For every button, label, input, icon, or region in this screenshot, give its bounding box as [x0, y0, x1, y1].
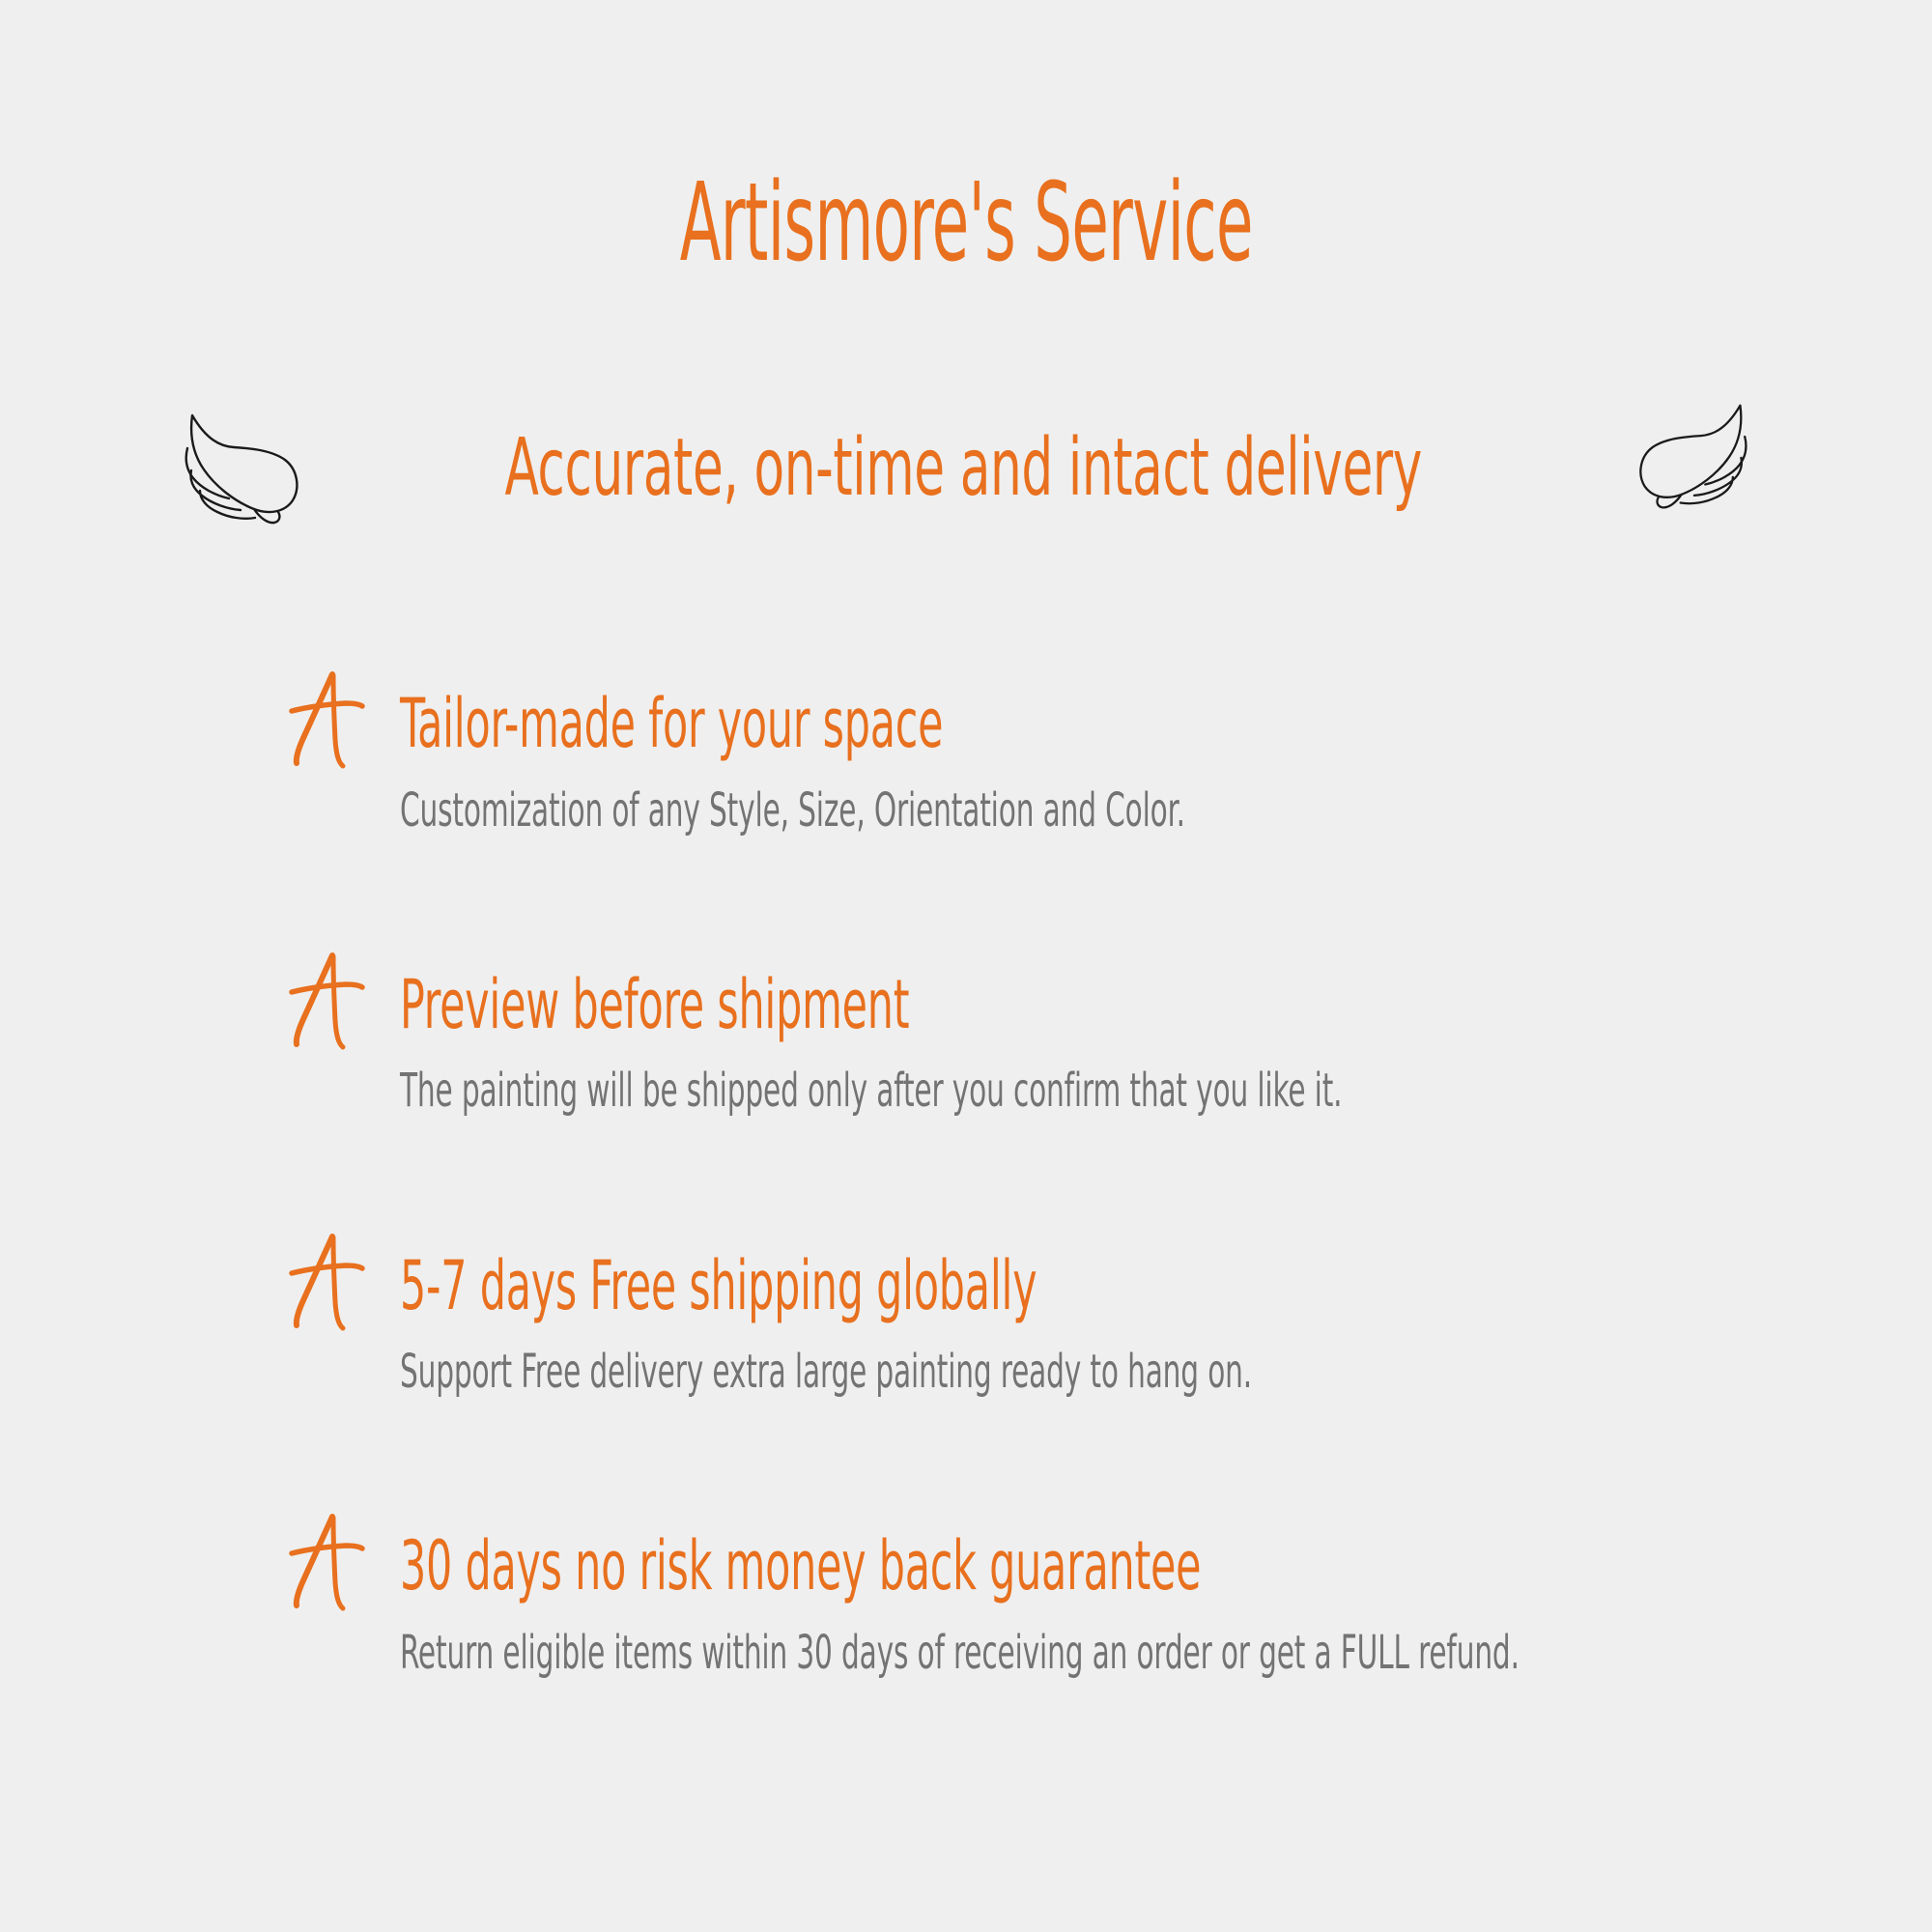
list-item-body: 5-7 days Free shipping globally Support … — [400, 1250, 1851, 1400]
feature-heading: Tailor-made for your space — [400, 688, 1386, 761]
page-title: Artismore's Service — [679, 169, 1252, 277]
list-item-body: Tailor-made for your space Customization… — [400, 688, 1851, 838]
script-a-icon — [286, 670, 365, 773]
service-feature-list: Tailor-made for your space Customization… — [286, 688, 1851, 1680]
feature-description: Support Free delivery extra large painti… — [400, 1346, 1394, 1399]
script-a-icon — [286, 1233, 365, 1335]
feature-description: Return eligible items within 30 days of … — [400, 1627, 1394, 1680]
feature-heading: 30 days no risk money back guarantee — [400, 1530, 1386, 1604]
list-item-body: Preview before shipment The painting wil… — [400, 969, 1851, 1119]
feature-description: Customization of any Style, Size, Orient… — [400, 784, 1394, 838]
list-item-body: 30 days no risk money back guarantee Ret… — [400, 1530, 1851, 1680]
page-subtitle: Accurate, on-time and intact delivery — [497, 429, 1429, 508]
subtitle-banner: Accurate, on-time and intact delivery — [0, 406, 1932, 531]
wing-icon — [181, 410, 304, 527]
list-item: Tailor-made for your space Customization… — [286, 688, 1851, 838]
feature-heading: Preview before shipment — [400, 969, 1386, 1042]
script-a-icon — [286, 1513, 365, 1615]
script-a-icon — [286, 952, 365, 1054]
page-header: Artismore's Service — [0, 169, 1932, 277]
list-item: Preview before shipment The painting wil… — [286, 969, 1851, 1119]
feature-description: The painting will be shipped only after … — [400, 1065, 1394, 1118]
service-info-page: Artismore's Service Accurate, on-time an… — [0, 0, 1932, 1932]
wing-icon — [1634, 400, 1751, 512]
list-item: 5-7 days Free shipping globally Support … — [286, 1250, 1851, 1400]
list-item: 30 days no risk money back guarantee Ret… — [286, 1530, 1851, 1680]
feature-heading: 5-7 days Free shipping globally — [400, 1250, 1386, 1323]
